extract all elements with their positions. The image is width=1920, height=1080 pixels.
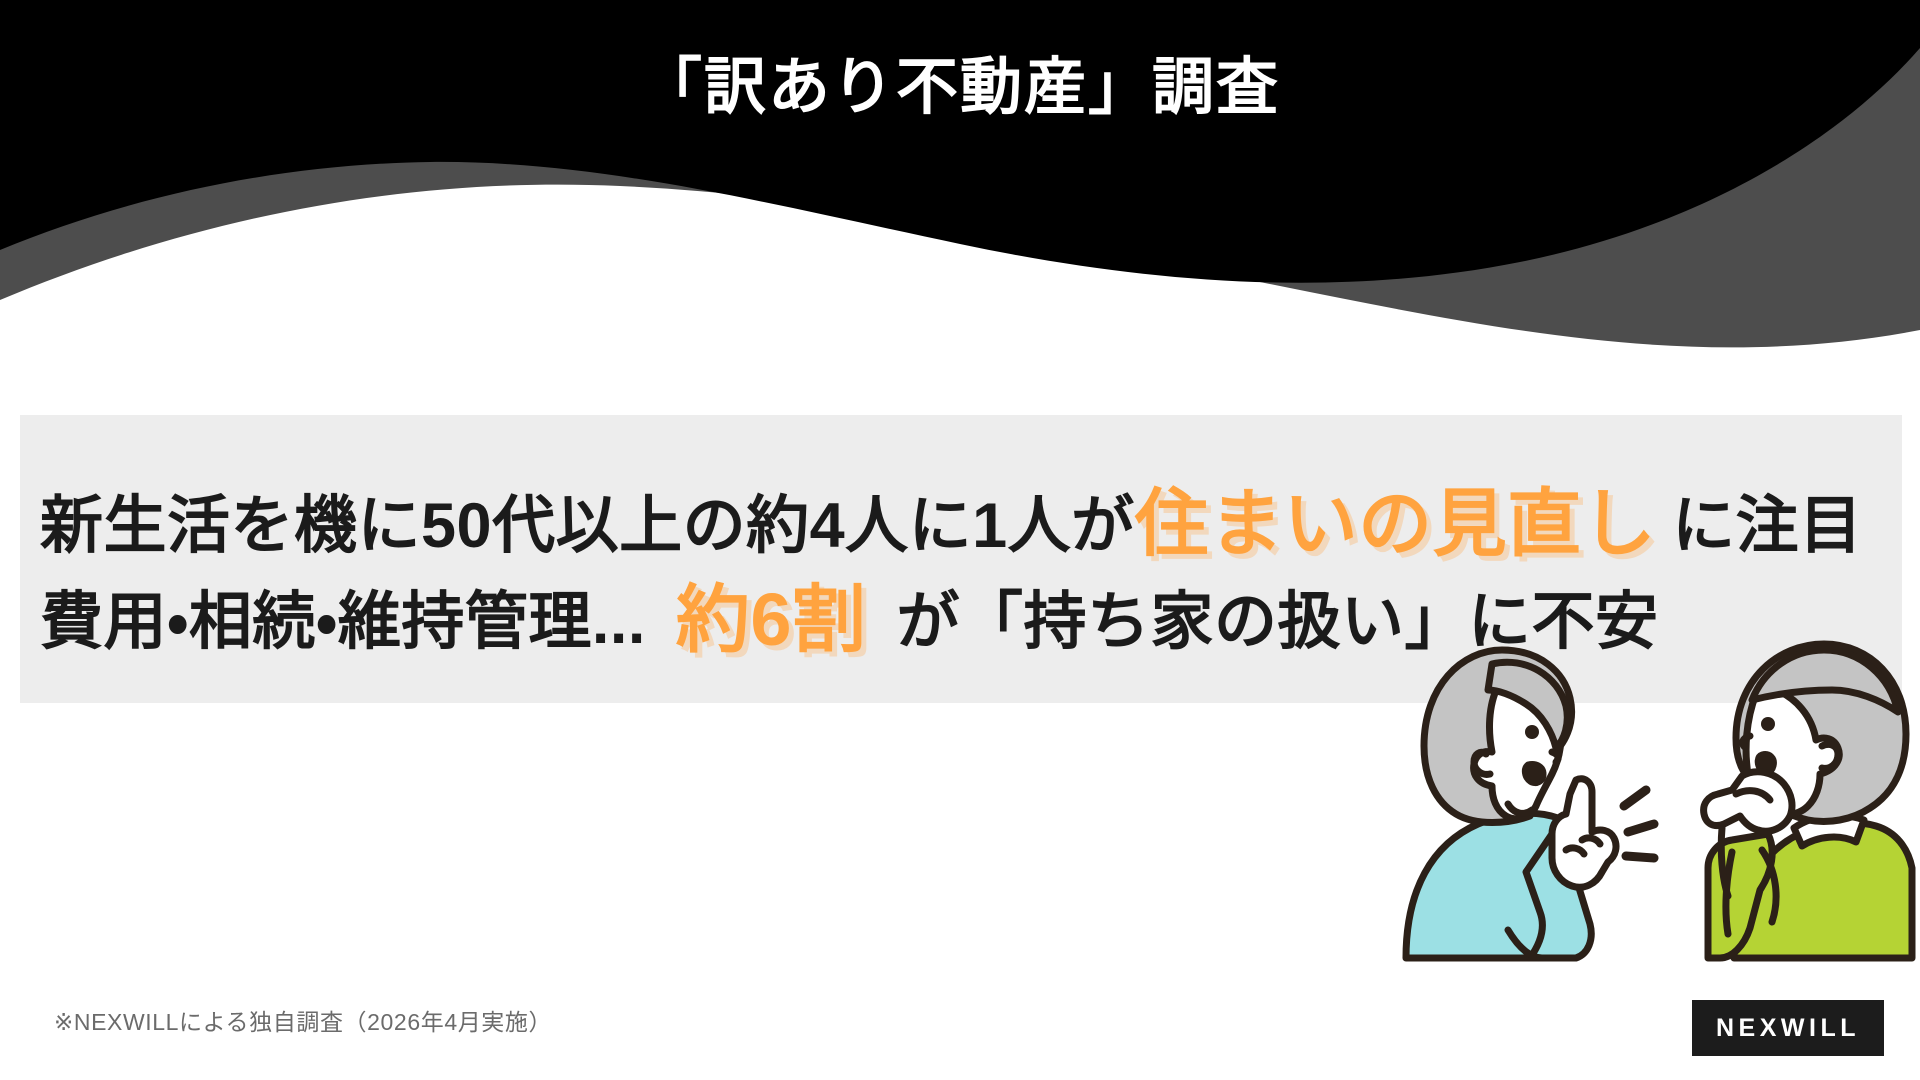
- figure-man-thinking: [1704, 644, 1912, 958]
- woman-eye: [1525, 725, 1539, 739]
- headline-line-1-part-1: 新生活を機に50代以上の約4人に1人が: [40, 491, 1135, 561]
- motion-line-2: [1628, 824, 1654, 832]
- motion-lines: [1624, 790, 1654, 858]
- headline-line-2-part-1: 費用・相続・維持管理...: [40, 587, 646, 657]
- illustration-svg: [1380, 628, 1920, 968]
- header-band: 「訳あり不動産」調査: [0, 0, 1920, 380]
- survey-footnote: ※NEXWILLによる独自調査（2026年4月実施）: [54, 1003, 552, 1037]
- page-title: 「訳あり不動産」調査: [0, 52, 1920, 123]
- two-seniors-talking-illustration: [1380, 628, 1920, 968]
- figure-woman-pointing: [1406, 650, 1616, 958]
- woman-mouth: [1524, 763, 1544, 783]
- motion-line-1: [1624, 790, 1646, 806]
- motion-line-3: [1626, 856, 1654, 858]
- man-hand-on-chin: [1704, 772, 1792, 831]
- woman-pointing-hand: [1552, 779, 1616, 887]
- headline-line-1: 新生活を機に50代以上の約4人に1人が住まいの見直しに注目: [40, 487, 1863, 561]
- nexwill-logo-text: NEXWILL: [1716, 1016, 1860, 1041]
- man-eye: [1761, 717, 1775, 731]
- headline-line-2-highlight: 約6割: [676, 578, 867, 661]
- headline-line-1-part-3: に注目: [1672, 491, 1863, 561]
- nexwill-logo: NEXWILL: [1692, 1000, 1884, 1056]
- headline-line-1-highlight: 住まいの見直し: [1135, 482, 1657, 565]
